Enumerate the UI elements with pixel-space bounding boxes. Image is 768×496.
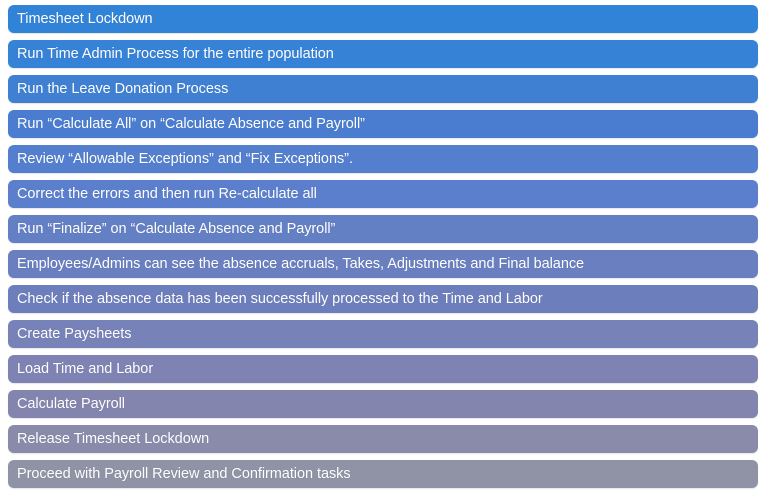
- process-step-label: Create Paysheets: [17, 320, 131, 348]
- process-step-label: Run Time Admin Process for the entire po…: [17, 40, 334, 68]
- process-step-label: Load Time and Labor: [17, 355, 153, 383]
- process-step-row[interactable]: Run the Leave Donation Process: [8, 75, 758, 103]
- process-step-label: Correct the errors and then run Re-calcu…: [17, 180, 317, 208]
- process-step-label: Run “Finalize” on “Calculate Absence and…: [17, 215, 335, 243]
- process-step-label: Timesheet Lockdown: [17, 5, 153, 33]
- process-step-row[interactable]: Review “Allowable Exceptions” and “Fix E…: [8, 145, 758, 173]
- process-step-label: Employees/Admins can see the absence acc…: [17, 250, 584, 278]
- process-step-row[interactable]: Correct the errors and then run Re-calcu…: [8, 180, 758, 208]
- process-step-row[interactable]: Load Time and Labor: [8, 355, 758, 383]
- process-step-label: Release Timesheet Lockdown: [17, 425, 209, 453]
- process-step-row[interactable]: Run Time Admin Process for the entire po…: [8, 40, 758, 68]
- process-step-label: Run the Leave Donation Process: [17, 75, 228, 103]
- process-step-row[interactable]: Check if the absence data has been succe…: [8, 285, 758, 313]
- process-step-row[interactable]: Release Timesheet Lockdown: [8, 425, 758, 453]
- process-step-row[interactable]: Proceed with Payroll Review and Confirma…: [8, 460, 758, 488]
- process-step-label: Check if the absence data has been succe…: [17, 285, 543, 313]
- process-step-row[interactable]: Timesheet Lockdown: [8, 5, 758, 33]
- process-step-list: Timesheet Lockdown Run Time Admin Proces…: [0, 0, 768, 496]
- process-step-row[interactable]: Run “Calculate All” on “Calculate Absenc…: [8, 110, 758, 138]
- process-step-label: Proceed with Payroll Review and Confirma…: [17, 460, 351, 488]
- process-step-row[interactable]: Create Paysheets: [8, 320, 758, 348]
- process-step-row[interactable]: Calculate Payroll: [8, 390, 758, 418]
- process-step-label: Run “Calculate All” on “Calculate Absenc…: [17, 110, 365, 138]
- process-step-label: Calculate Payroll: [17, 390, 125, 418]
- process-step-row[interactable]: Employees/Admins can see the absence acc…: [8, 250, 758, 278]
- process-step-label: Review “Allowable Exceptions” and “Fix E…: [17, 145, 353, 173]
- process-step-row[interactable]: Run “Finalize” on “Calculate Absence and…: [8, 215, 758, 243]
